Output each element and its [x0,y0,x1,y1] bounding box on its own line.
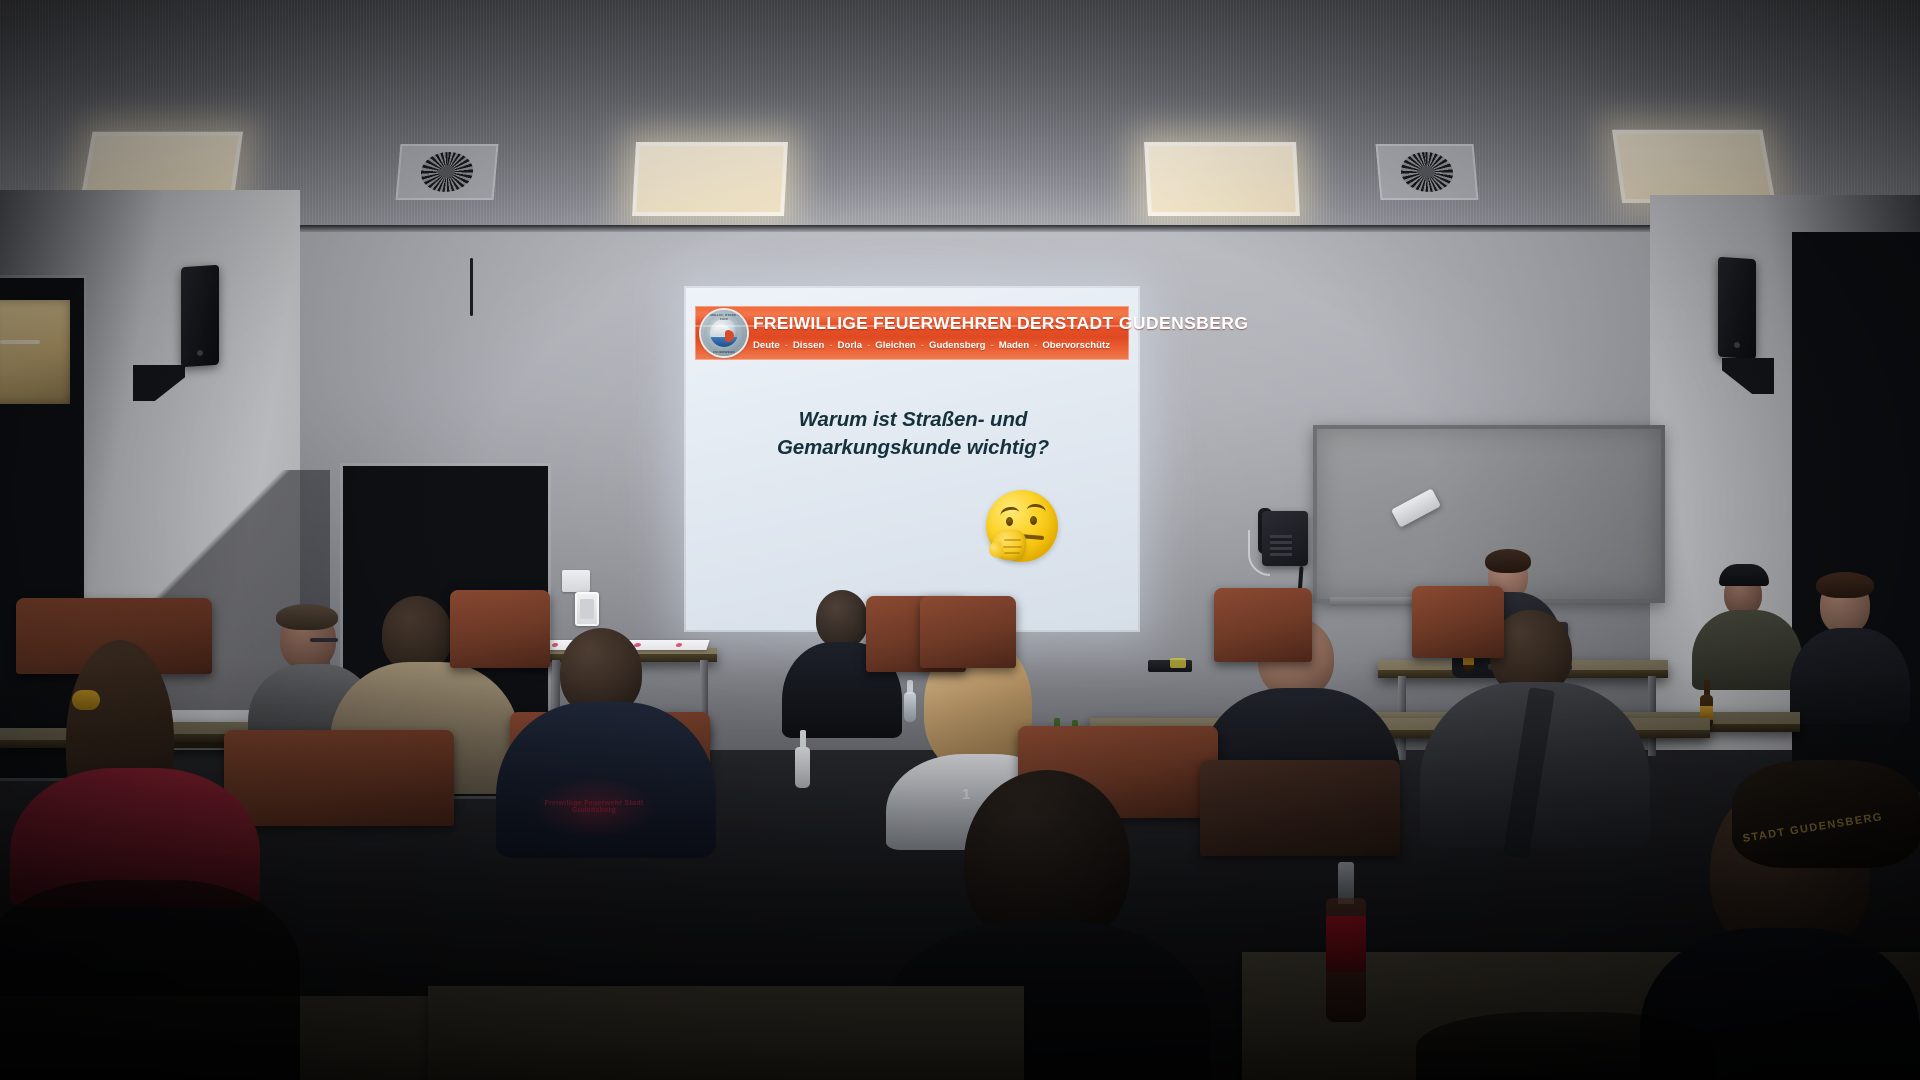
chair-fg-right-2[interactable] [1200,760,1400,856]
speaker-cable-left [470,258,473,316]
village-sep: - [916,340,929,351]
telephone-keypad-icon[interactable] [1270,535,1292,557]
audience-person-capped [1692,562,1802,682]
ceiling-air-vent-2 [1376,144,1479,200]
seminar-room-photo: FREIWILLIG, STARK UND FAIR FEUERWEHR FRE… [0,0,1920,1080]
sticky-note [1170,658,1186,668]
emoji-eye-left [1006,517,1013,526]
village-1: Dissen [793,340,824,351]
banner-title-strong: STADT GUDENSBERG [1055,313,1249,334]
hair-tie [72,690,100,710]
person-head [382,596,452,672]
ceiling-air-vent-1 [396,144,499,200]
audience-person-hoodie: Freiwillige Feuerwehr Stadt Gudensberg [496,628,716,848]
table-row-front-center [428,986,1024,1080]
emoji-knuckle [1004,552,1020,554]
wall-speaker-right [1718,257,1756,360]
projection-screen: FREIWILLIG, STARK UND FAIR FEUERWEHR FRE… [686,288,1138,630]
ceiling-light-panel-4 [1612,130,1776,203]
chair-right-3[interactable] [1412,586,1504,658]
village-2: Dorla [838,340,863,351]
village-0: Deute [753,340,780,351]
banner-title: FREIWILLIGE FEUERWEHREN DER STADT GUDENS… [753,311,1123,335]
beer-bottle-mid-3[interactable] [795,730,810,788]
swirl-diffuser-icon [1399,152,1454,192]
thinking-face-emoji [986,490,1058,562]
slide-banner: FREIWILLIG, STARK UND FAIR FEUERWEHR FRE… [695,306,1129,360]
village-sep: - [824,340,837,351]
coca-cola-bottle[interactable] [1326,862,1366,1022]
emblem-motto-top: FREIWILLIG, STARK UND FAIR [701,313,747,321]
village-sep: - [986,340,999,351]
presenter-hair [1485,549,1531,573]
chair-right[interactable] [920,596,1016,668]
hoodie-print-text: Freiwillige Feuerwehr Stadt Gudensberg [534,800,654,814]
door-sign-left [562,570,590,592]
wall-speaker-left [181,265,219,368]
hoodie-print-area: Freiwillige Feuerwehr Stadt Gudensberg [534,778,654,838]
person-body [1692,610,1802,690]
slide-question-text: Warum ist Straßen- und Gemarkungskunde w… [712,406,1114,463]
coca-cola-label [1326,916,1366,972]
audience-person-red [10,640,260,890]
fire-brigade-emblem: FREIWILLIG, STARK UND FAIR FEUERWEHR [701,310,747,356]
person-hair [276,604,338,630]
village-4: Gudensberg [929,340,986,351]
foreground-silhouette-left [0,880,300,1080]
emoji-knuckle [1003,546,1022,548]
chair-right-2[interactable] [1214,588,1312,662]
village-sep: - [1029,340,1042,351]
corridor-light-bar [0,340,40,344]
village-3: Gleichen [875,340,916,351]
corridor-door-window [0,300,70,404]
village-5: Maden [999,340,1029,351]
village-6: Obervorschütz [1042,340,1110,351]
light-switch-left[interactable] [575,592,599,626]
bottle-body [795,747,810,788]
firefighter-helmet-icon [710,319,738,347]
audience-person-right-far [1790,576,1910,716]
village-sep: - [780,340,793,351]
emoji-knuckle [1004,539,1021,541]
foreground-silhouette-right [1416,1012,1716,1080]
baseball-cap-icon [1719,564,1769,586]
banner-title-light: FREIWILLIGE FEUERWEHREN DER [753,313,1055,334]
emoji-eye-right [1030,516,1037,525]
person-body [1790,628,1910,724]
emoji-hand [992,530,1026,560]
emblem-motto-bottom: FEUERWEHR [701,350,747,354]
baseball-cap-icon [1732,760,1920,868]
ceiling-light-panel-3 [1144,142,1300,216]
person-head [816,590,868,648]
banner-village-list: Deute - Dissen - Dorla - Gleichen - Gude… [753,337,1125,353]
ceiling-light-panel-2 [632,142,788,216]
person-hair [1816,572,1874,598]
speaker-indicator-icon [197,350,203,356]
speaker-indicator-icon [1734,342,1740,348]
village-sep: - [862,340,875,351]
swirl-diffuser-icon [419,152,474,192]
slide: FREIWILLIG, STARK UND FAIR FEUERWEHR FRE… [686,288,1138,630]
